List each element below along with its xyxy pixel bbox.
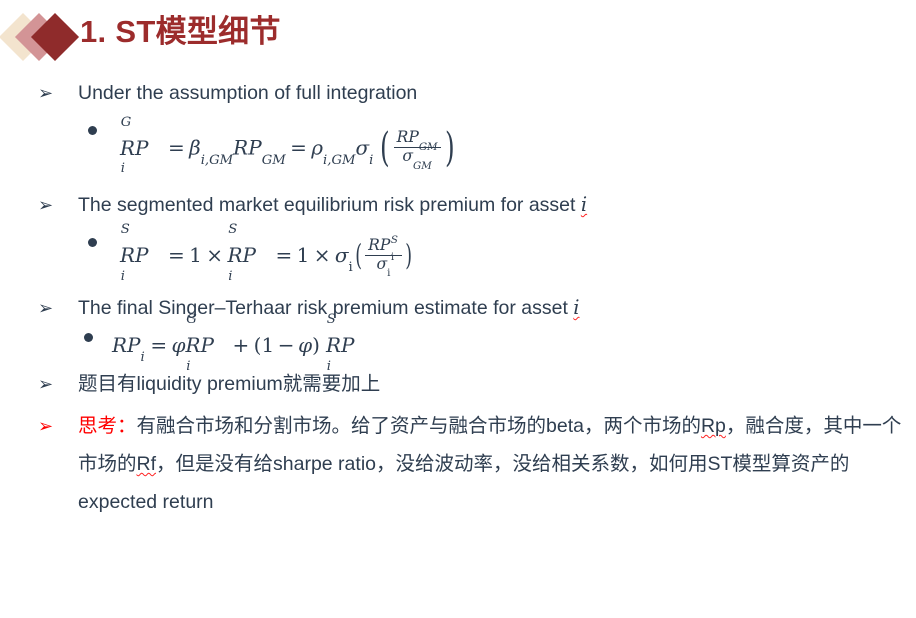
arrow-bullet-red-icon: ➢	[38, 407, 53, 445]
paren-open-icon: (	[380, 125, 390, 171]
times-1: ×	[206, 243, 223, 267]
formula-integrated: RPGi=βi,GMRPGM=ρi,GMσi(RPGMσGM)	[120, 126, 457, 172]
number-one-1: 1	[189, 243, 202, 267]
equals: =	[150, 333, 167, 357]
times-2: ×	[314, 243, 331, 267]
frac-num-sub: GM	[419, 141, 438, 153]
equals-1: =	[168, 136, 185, 160]
thinking-lead-label: 思考：	[78, 415, 137, 437]
arrow-bullet-icon: ➢	[38, 190, 53, 220]
bullet-item-segmented: ➢ The segmented market equilibrium risk …	[0, 190, 916, 220]
formula-row-integrated: RPGi=βi,GMRPGM=ρi,GMσi(RPGMσGM)	[0, 126, 916, 172]
sigma-symbol: σ	[356, 136, 370, 160]
spellcheck-flagged-i: i	[573, 296, 579, 319]
bullet-text-segmented: The segmented market equilibrium risk pr…	[78, 194, 581, 216]
beta-subscript: i,GM	[201, 153, 233, 168]
arrow-bullet-icon: ➢	[38, 293, 53, 323]
formula-row-final: RPi=φRPGi+(1−φ)RPSi	[0, 333, 916, 357]
number-one-2: 1	[297, 243, 310, 267]
equals-1: =	[168, 243, 185, 267]
bullet-text-integration: Under the assumption of full integration	[78, 82, 417, 104]
phi-symbol-1: φ	[171, 333, 185, 357]
equals-2: =	[290, 136, 307, 160]
frac-den-sub: GM	[413, 160, 432, 172]
frac-num-base: RP	[397, 128, 419, 146]
equals-2: =	[275, 243, 292, 267]
round-bullet-icon	[84, 333, 93, 342]
decorative-diamonds	[4, 12, 76, 64]
slide-header: 1. ST模型细节	[0, 0, 916, 72]
formula-row-segmented: RPSi=1×RPSi=1×σi(RPSiσi)	[0, 238, 916, 275]
paren-close: )	[312, 333, 320, 357]
thinking-line2-b: ，但是没有给sharpe ratio，没给波动率，没给相关	[156, 453, 590, 475]
page-title: 1. ST模型细节	[80, 9, 281, 55]
thinking-line1-tail: ，	[726, 415, 746, 437]
beta-symbol: β	[189, 136, 201, 160]
bullet-item-thinking: ➢ 思考：有融合市场和分割市场。给了资产与融合市场的beta，两个市场的Rp，融…	[0, 407, 916, 521]
bullet-text-final: The final Singer–Terhaar risk premium es…	[78, 297, 573, 319]
formula-final: RPi=φRPGi+(1−φ)RPSi	[112, 333, 347, 357]
rp-subscript: GM	[262, 153, 286, 168]
minus-sign: −	[278, 333, 295, 357]
paren-close-icon: )	[405, 238, 412, 272]
bullet-item-liquidity: ➢ 题目有liquidity premium就需要加上	[0, 367, 916, 401]
round-bullet-icon	[88, 126, 97, 135]
bullet-text-liquidity: 题目有liquidity premium就需要加上	[78, 373, 380, 395]
number-one: 1	[261, 333, 274, 357]
sigma-subscript-upright: i	[349, 260, 353, 275]
sigma-symbol: σ	[335, 243, 349, 267]
fraction-rp-sigma: RPSiσi	[365, 237, 402, 274]
rho-symbol: ρ	[311, 136, 323, 160]
rp-base: RP	[112, 333, 141, 357]
frac-den-sub: i	[387, 267, 390, 279]
spellcheck-flagged-rf: Rf	[137, 453, 157, 475]
phi-symbol-2: φ	[298, 333, 312, 357]
rho-subscript: i,GM	[323, 153, 355, 168]
rp-term: RP	[233, 136, 262, 160]
thinking-line1-a: 有融合市场和分割市场。给了资产与融合市场的beta，两个市场的	[137, 415, 701, 437]
fraction-rp-sigma: RPGMσGM	[394, 129, 441, 166]
spellcheck-flagged-rp: Rp	[701, 415, 726, 437]
paren-open-icon: (	[355, 238, 362, 272]
formula-segmented: RPSi=1×RPSi=1×σi(RPSiσi)	[120, 238, 414, 275]
arrow-bullet-icon: ➢	[38, 367, 53, 401]
frac-den-base: σ	[377, 255, 388, 273]
sigma-subscript: i	[369, 153, 373, 168]
frac-den-base: σ	[402, 147, 413, 165]
plus-sign: +	[233, 333, 250, 357]
arrow-bullet-icon: ➢	[38, 78, 53, 108]
slide-body: ➢ Under the assumption of full integrati…	[0, 78, 916, 521]
bullet-item-final: ➢ The final Singer–Terhaar risk premium …	[0, 293, 916, 323]
bullet-item-integration: ➢ Under the assumption of full integrati…	[0, 78, 916, 108]
frac-num-base: RP	[368, 236, 390, 254]
round-bullet-icon	[88, 238, 97, 247]
paren-close-icon: )	[445, 125, 455, 171]
rp-sub-i: i	[141, 350, 145, 365]
spellcheck-flagged-i: i	[581, 193, 587, 216]
